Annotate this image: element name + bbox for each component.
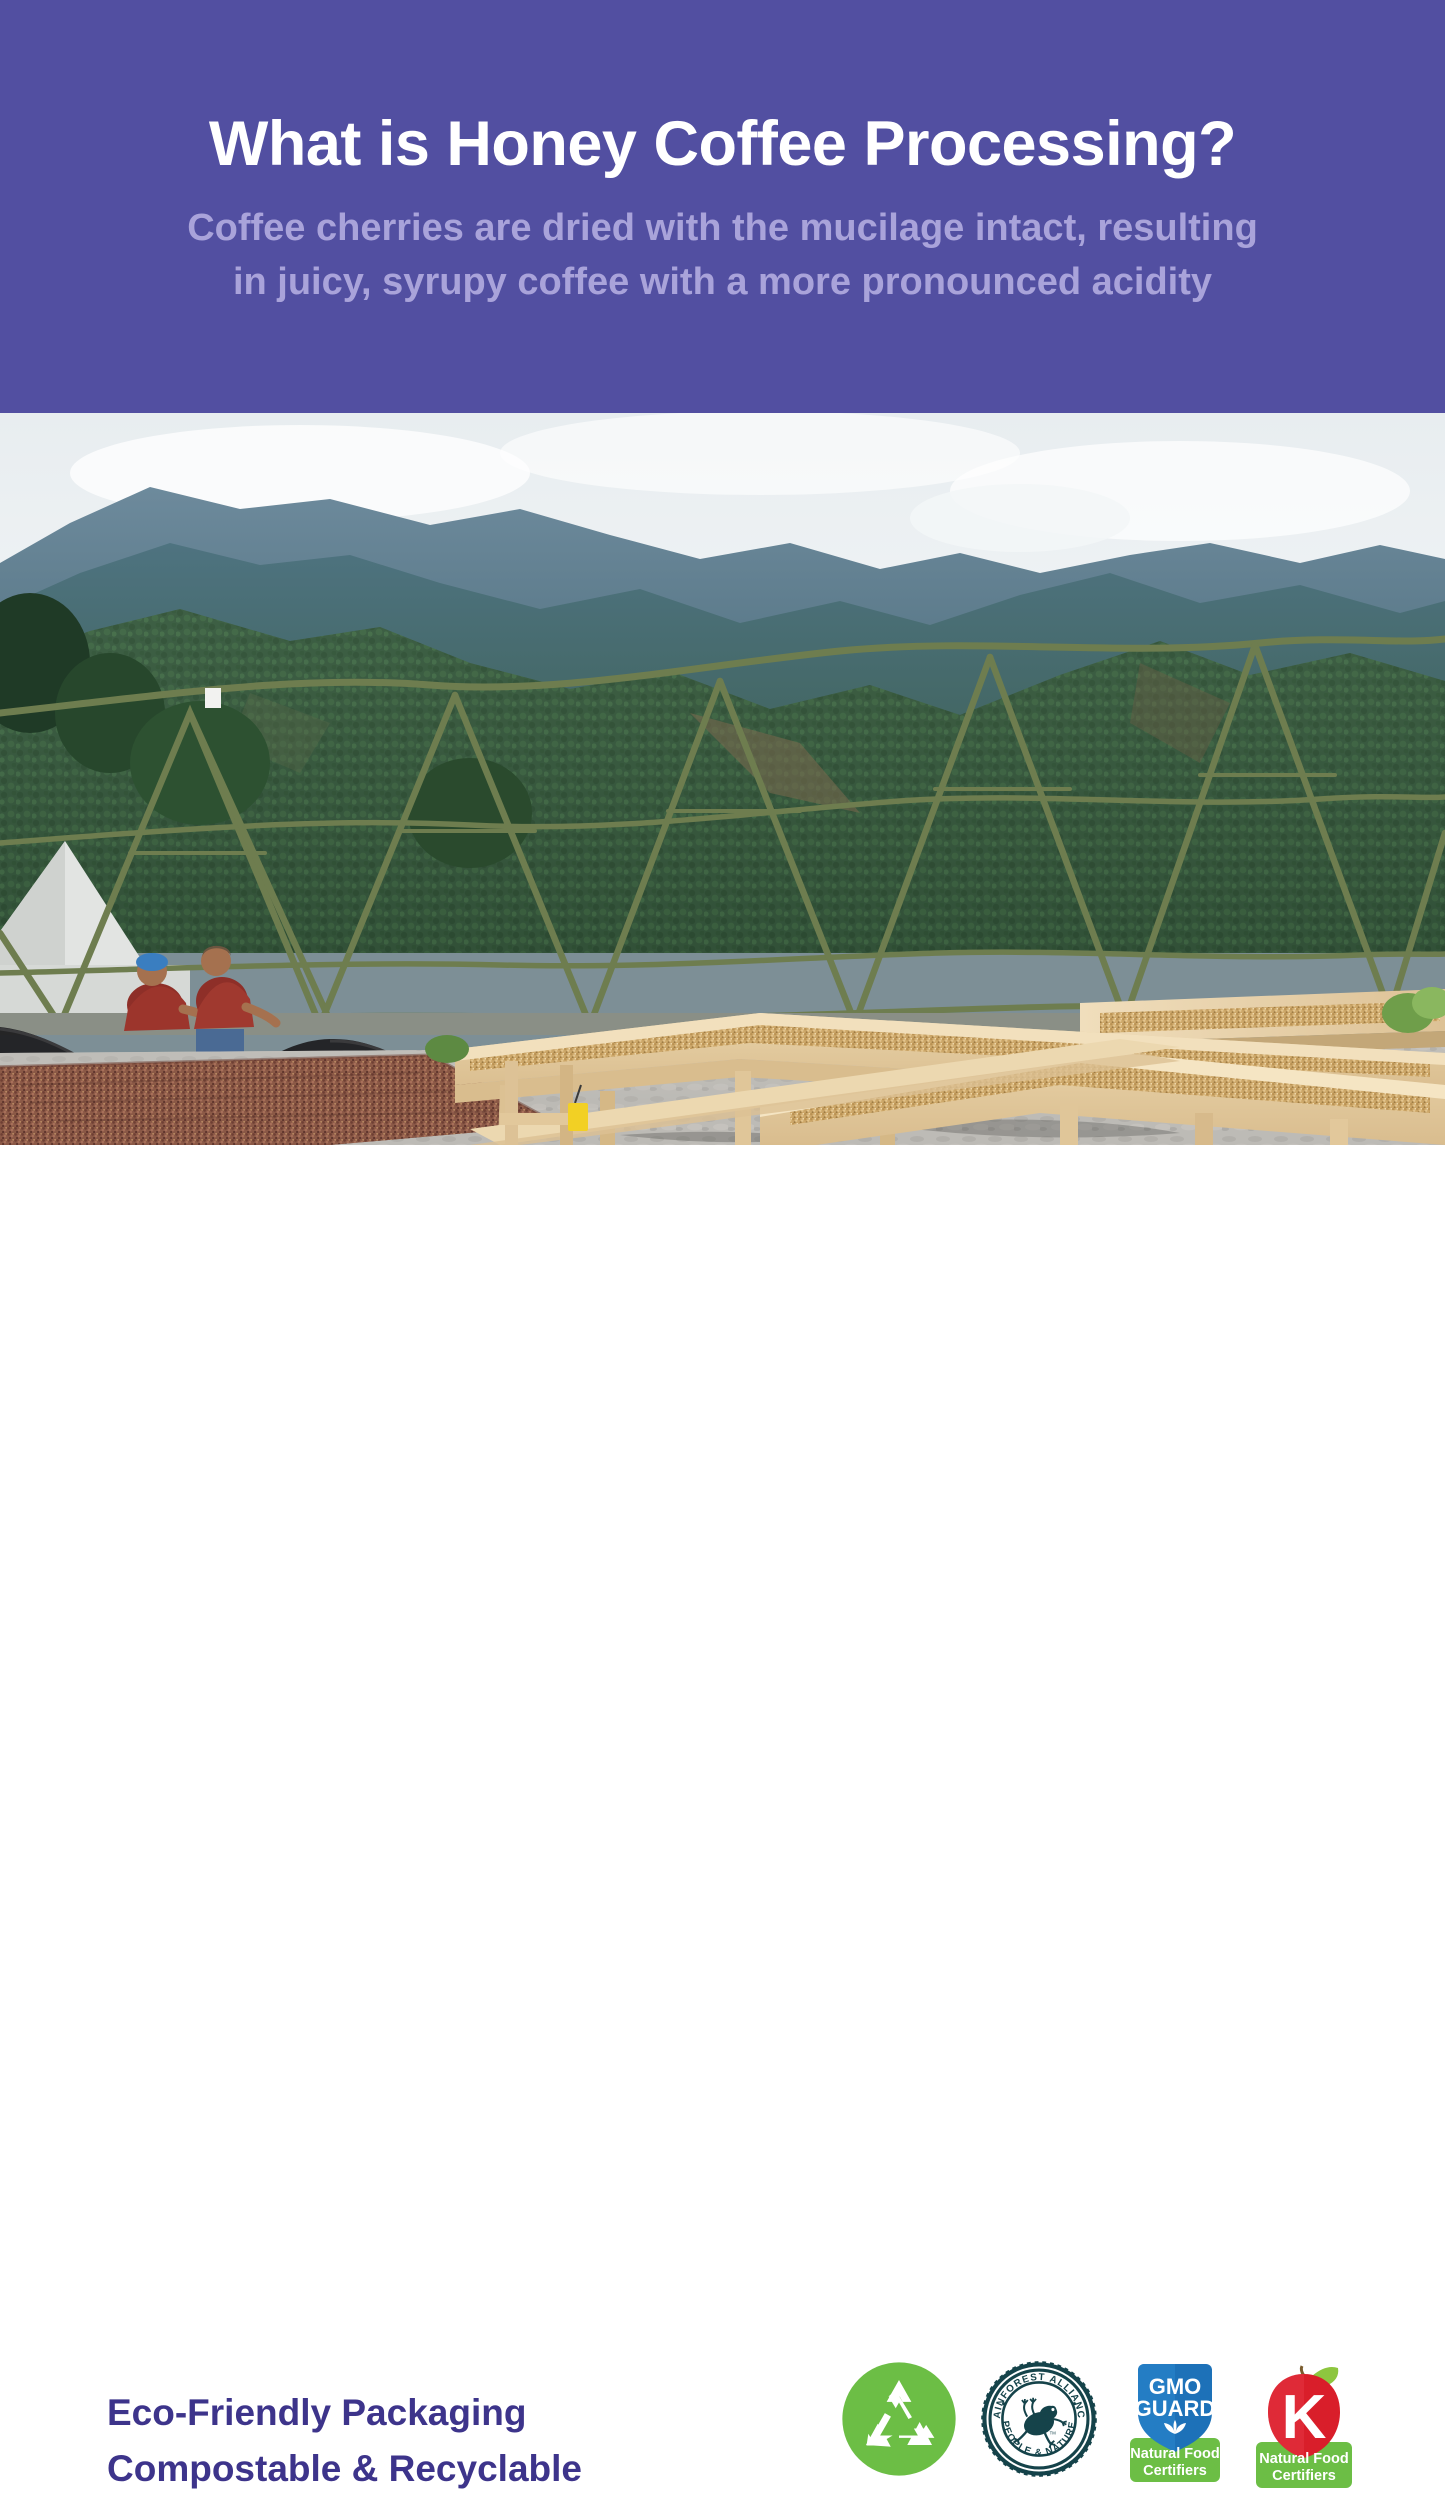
gmo-guard-icon: GMO GUARD Natural Food Certifiers <box>1122 2360 1228 2488</box>
rainforest-alliance-seal-icon: RAINFOREST ALLIANCE PEOPLE & NATURE <box>980 2360 1098 2478</box>
recycle-icon <box>840 2360 958 2478</box>
page-subtitle: Coffee cherries are dried with the mucil… <box>187 202 1258 310</box>
photo-illustration <box>0 413 1445 1145</box>
page-title: What is Honey Coffee Processing? <box>209 113 1236 176</box>
gmo-panel-line-2: Certifiers <box>1143 2463 1207 2479</box>
footer-section: Eco-Friendly Packaging Compostable & Rec… <box>0 1145 1445 1445</box>
rainforest-tm: TM <box>1050 2430 1057 2435</box>
rainforest-alliance-badge: RAINFOREST ALLIANCE PEOPLE & NATURE <box>980 2360 1098 2483</box>
header-banner: What is Honey Coffee Processing? Coffee … <box>0 0 1445 413</box>
coffee-drying-photo <box>0 413 1445 1145</box>
subtitle-line-2: in juicy, syrupy coffee with a more pron… <box>187 256 1258 310</box>
kosher-k-mark: K <box>1282 2383 1327 2452</box>
kosher-apple-icon: K Natural Food Certifiers <box>1248 2360 1360 2496</box>
kosher-panel-line-1: Natural Food <box>1259 2451 1348 2467</box>
gmo-guard-badge: GMO GUARD Natural Food Certifiers <box>1122 2360 1228 2493</box>
infographic-page: What is Honey Coffee Processing? Coffee … <box>0 0 1445 1445</box>
eco-line-1: Eco-Friendly Packaging <box>107 2385 582 2441</box>
gmo-shield-line-2: GUARD <box>1135 2396 1216 2421</box>
worker-right <box>194 946 276 1053</box>
subtitle-line-1: Coffee cherries are dried with the mucil… <box>187 202 1258 256</box>
kosher-badge: K Natural Food Certifiers <box>1248 2360 1360 2501</box>
eco-line-2: Compostable & Recyclable <box>107 2441 582 2497</box>
gmo-panel-line-1: Natural Food <box>1130 2446 1219 2462</box>
certification-badges: RAINFOREST ALLIANCE PEOPLE & NATURE <box>840 2360 1380 2510</box>
recycle-badge <box>840 2360 958 2483</box>
white-sign <box>205 688 221 708</box>
eco-friendly-text: Eco-Friendly Packaging Compostable & Rec… <box>107 2385 582 2497</box>
kosher-panel-line-2: Certifiers <box>1272 2468 1336 2484</box>
